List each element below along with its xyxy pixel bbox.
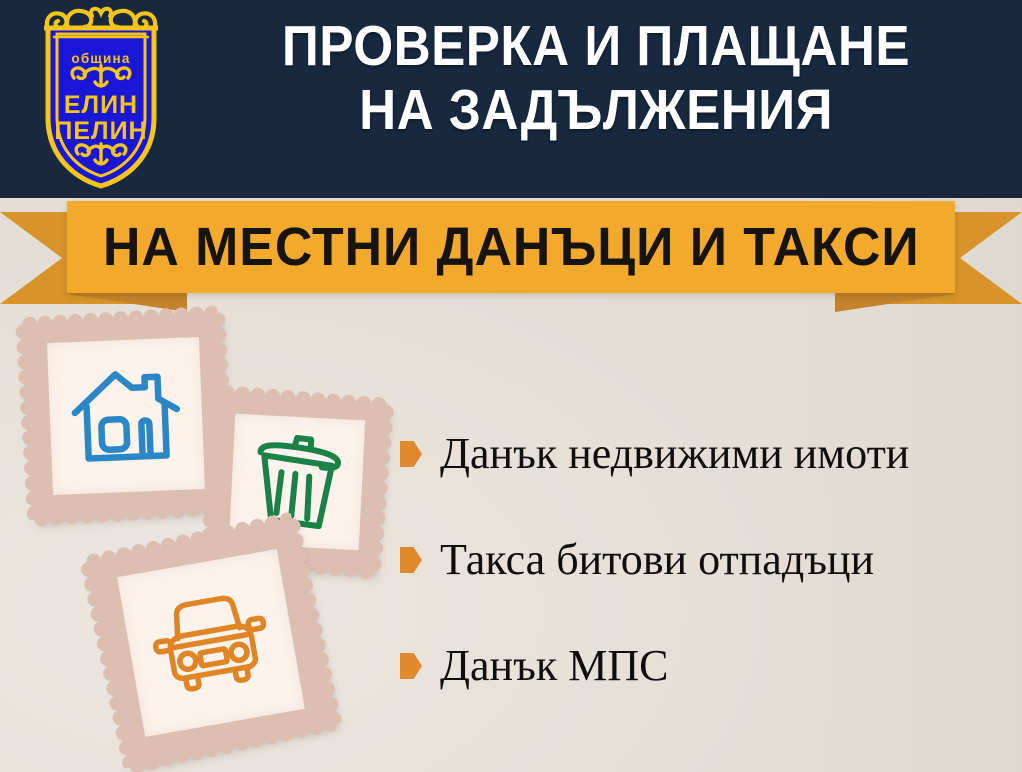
list-item[interactable]: Данък МПС (400, 637, 1010, 695)
arrow-pentagon-bullet-icon (400, 441, 422, 467)
car-front-icon (145, 587, 277, 698)
house-icon (68, 362, 184, 470)
poster-canvas: община ЕЛИН ПЕЛИН (0, 0, 1022, 772)
subtitle-ribbon: НА МЕСТНИ ДАНЪЦИ И ТАКСИ (0, 196, 1022, 321)
ribbon-band: НА МЕСТНИ ДАНЪЦИ И ТАКСИ (67, 201, 955, 293)
svg-text:община: община (71, 51, 130, 66)
scallop-edge-top (219, 385, 388, 413)
scallop-edge-right (366, 404, 394, 573)
stamp-card-house (22, 312, 230, 520)
svg-text:ПЕЛИН: ПЕЛИН (54, 117, 147, 145)
tax-type-list: Данък недвижими имоти Такса битови отпад… (400, 425, 1010, 743)
list-item[interactable]: Данък недвижими имоти (400, 425, 1010, 483)
page-title: ПРОВЕРКА И ПЛАЩАНЕ НА ЗАДЪЛЖЕНИЯ (227, 14, 965, 142)
stamp-card-car (86, 518, 335, 767)
arrow-pentagon-bullet-icon (400, 547, 422, 573)
scallop-edge-bottom (34, 500, 231, 527)
coat-of-arms-icon: община ЕЛИН ПЕЛИН (26, 6, 176, 192)
list-item[interactable]: Такса битови отпадъци (400, 531, 1010, 589)
header-banner: община ЕЛИН ПЕЛИН (0, 0, 1022, 198)
list-item-label: Данък МПС (440, 641, 668, 691)
svg-text:ЕЛИН: ЕЛИН (64, 91, 138, 119)
ribbon-label: НА МЕСТНИ ДАНЪЦИ И ТАКСИ (103, 219, 920, 275)
list-item-label: Такса битови отпадъци (440, 535, 874, 585)
stamp-card-inner (117, 549, 305, 737)
stamp-card-inner (47, 337, 205, 495)
scallop-edge-left (15, 324, 42, 521)
arrow-pentagon-bullet-icon (400, 653, 422, 679)
list-item-label: Данък недвижими имоти (440, 429, 909, 479)
